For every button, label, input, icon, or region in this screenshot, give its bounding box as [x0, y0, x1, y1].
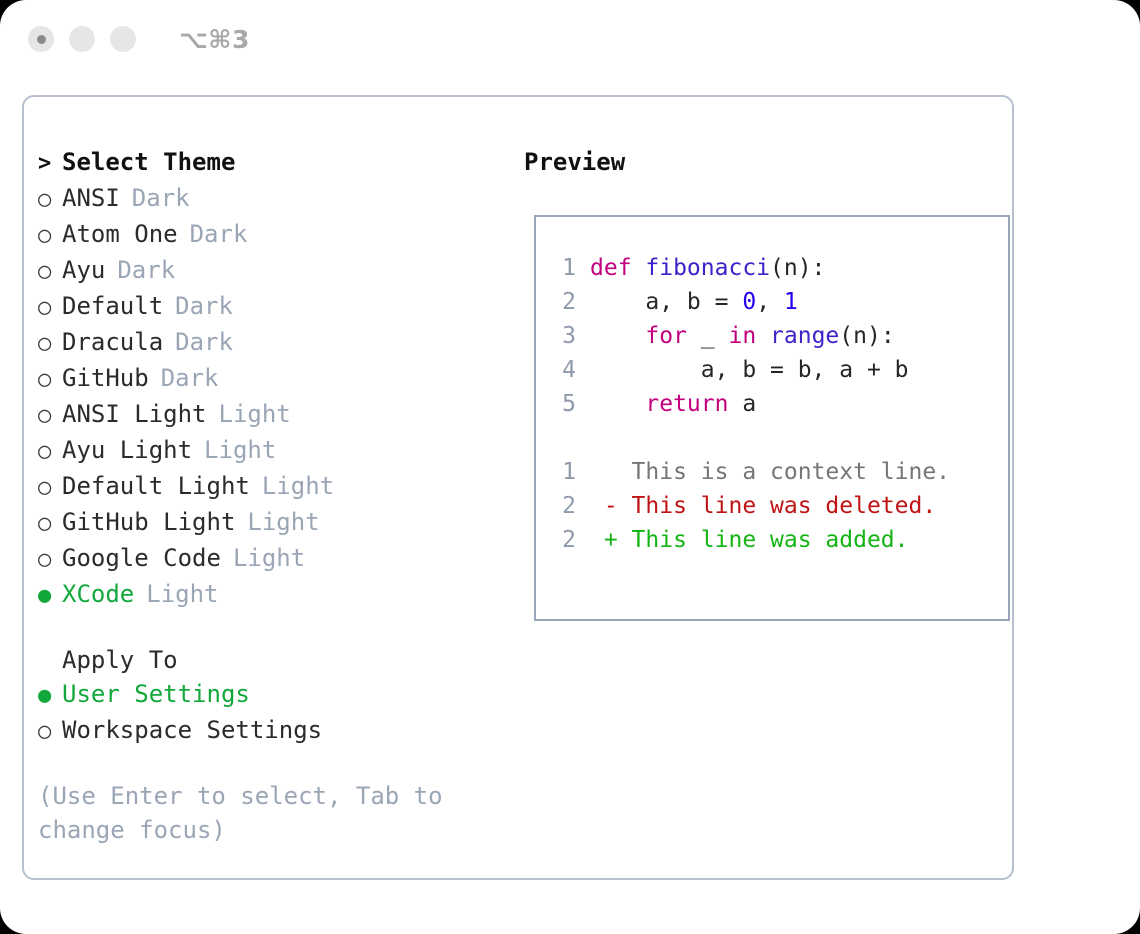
- theme-option-5[interactable]: ○GitHubDark: [38, 361, 488, 397]
- token-num: 0: [742, 289, 756, 315]
- theme-option-2[interactable]: ○AyuDark: [38, 253, 488, 289]
- token-plain: [590, 391, 645, 417]
- radio-unselected-icon: ○: [38, 291, 62, 325]
- diff-line-1: 2 - This line was deleted.: [536, 489, 1008, 523]
- token-plain: (n):: [839, 323, 894, 349]
- code-line-2: 3 for _ in range(n):: [536, 319, 1008, 353]
- radio-unselected-icon: ○: [38, 471, 62, 505]
- main-panel: > Select Theme ○ANSIDark○Atom OneDark○Ay…: [22, 95, 1014, 880]
- theme-option-7[interactable]: ○Ayu LightLight: [38, 433, 488, 469]
- radio-selected-icon: ●: [38, 679, 62, 713]
- theme-option-badge: Light: [247, 505, 319, 539]
- token-add: + This line was added.: [590, 527, 909, 553]
- theme-option-label: ANSI Light: [62, 397, 207, 431]
- theme-option-badge: Dark: [132, 181, 190, 215]
- theme-options-list: ○ANSIDark○Atom OneDark○AyuDark○DefaultDa…: [38, 181, 488, 613]
- window-dot-active[interactable]: [28, 26, 54, 52]
- theme-option-badge: Dark: [190, 217, 248, 251]
- diff-sample: 1 This is a context line.2 - This line w…: [536, 455, 1008, 557]
- theme-option-label: Ayu: [62, 253, 105, 287]
- diff-line-content: - This line was deleted.: [590, 489, 936, 523]
- theme-option-11[interactable]: ●XCodeLight: [38, 577, 488, 613]
- code-line-content: a, b = 0, 1: [590, 285, 798, 319]
- apply-to-option-0[interactable]: ●User Settings: [38, 677, 488, 713]
- diff-line-content: This is a context line.: [590, 455, 950, 489]
- theme-option-label: Default Light: [62, 469, 250, 503]
- code-line-content: def fibonacci(n):: [590, 251, 825, 285]
- theme-option-0[interactable]: ○ANSIDark: [38, 181, 488, 217]
- preview-column: Preview 1def fibonacci(n):2 a, b = 0, 13…: [500, 145, 1000, 621]
- token-num: 1: [784, 289, 798, 315]
- token-fn: range: [770, 323, 839, 349]
- apply-to-option-1[interactable]: ○Workspace Settings: [38, 713, 488, 749]
- theme-option-6[interactable]: ○ANSI LightLight: [38, 397, 488, 433]
- radio-unselected-icon: ○: [38, 219, 62, 253]
- theme-option-3[interactable]: ○DefaultDark: [38, 289, 488, 325]
- token-plain: [756, 323, 770, 349]
- keyboard-shortcut-label: ⌥⌘3: [179, 25, 250, 54]
- radio-unselected-icon: ○: [38, 435, 62, 469]
- theme-option-badge: Dark: [117, 253, 175, 287]
- window-dot-third[interactable]: [110, 26, 136, 52]
- line-number: 2: [536, 285, 590, 319]
- token-plain: ,: [756, 289, 784, 315]
- token-del: - This line was deleted.: [590, 493, 936, 519]
- theme-option-badge: Dark: [175, 289, 233, 323]
- radio-unselected-icon: ○: [38, 327, 62, 361]
- radio-selected-icon: ●: [38, 579, 62, 613]
- caret-icon: >: [38, 147, 62, 181]
- theme-option-label: Dracula: [62, 325, 163, 359]
- theme-option-1[interactable]: ○Atom OneDark: [38, 217, 488, 253]
- line-number: 5: [536, 387, 590, 421]
- theme-option-badge: Light: [219, 397, 291, 431]
- token-plain: a: [728, 391, 756, 417]
- theme-option-badge: Light: [204, 433, 276, 467]
- token-plain: a, b = b, a + b: [590, 357, 909, 383]
- token-kw: for: [645, 323, 687, 349]
- theme-list-header: > Select Theme: [38, 145, 488, 181]
- apply-to-option-label: Workspace Settings: [62, 713, 322, 747]
- spacer: [536, 421, 1008, 455]
- token-plain: _: [687, 323, 729, 349]
- preview-box: 1def fibonacci(n):2 a, b = 0, 13 for _ i…: [534, 215, 1010, 621]
- code-line-3: 4 a, b = b, a + b: [536, 353, 1008, 387]
- radio-unselected-icon: ○: [38, 543, 62, 577]
- apply-to-options-list: ●User Settings○Workspace Settings: [38, 677, 488, 749]
- token-kw: return: [645, 391, 728, 417]
- code-line-content: a, b = b, a + b: [590, 353, 909, 387]
- diff-line-2: 2 + This line was added.: [536, 523, 1008, 557]
- spacer: [38, 749, 488, 775]
- line-number: 3: [536, 319, 590, 353]
- diff-line-0: 1 This is a context line.: [536, 455, 1008, 489]
- keyboard-hint-text: (Use Enter to select, Tab to change focu…: [38, 779, 448, 847]
- theme-option-label: Atom One: [62, 217, 178, 251]
- theme-list-column: > Select Theme ○ANSIDark○Atom OneDark○Ay…: [38, 145, 488, 847]
- theme-option-9[interactable]: ○GitHub LightLight: [38, 505, 488, 541]
- line-number: 1: [536, 251, 590, 285]
- theme-option-label: Ayu Light: [62, 433, 192, 467]
- theme-option-badge: Light: [146, 577, 218, 611]
- preview-title: Preview: [524, 145, 1000, 179]
- theme-option-8[interactable]: ○Default LightLight: [38, 469, 488, 505]
- line-number: 1: [536, 455, 590, 489]
- theme-option-10[interactable]: ○Google CodeLight: [38, 541, 488, 577]
- line-number: 4: [536, 353, 590, 387]
- apply-to-title: Apply To: [62, 643, 178, 677]
- title-bar: ⌥⌘3: [0, 0, 1140, 78]
- window-dot-second[interactable]: [69, 26, 95, 52]
- theme-option-label: Default: [62, 289, 163, 323]
- code-line-0: 1def fibonacci(n):: [536, 251, 1008, 285]
- spacer: [38, 613, 488, 643]
- token-plain: a, b =: [590, 289, 742, 315]
- code-line-1: 2 a, b = 0, 1: [536, 285, 1008, 319]
- theme-option-label: ANSI: [62, 181, 120, 215]
- radio-unselected-icon: ○: [38, 363, 62, 397]
- app-window: ⌥⌘3 > Select Theme ○ANSIDark○Atom OneDar…: [0, 0, 1140, 934]
- code-line-4: 5 return a: [536, 387, 1008, 421]
- line-number: 2: [536, 489, 590, 523]
- theme-option-label: XCode: [62, 577, 134, 611]
- theme-option-4[interactable]: ○DraculaDark: [38, 325, 488, 361]
- theme-option-badge: Light: [233, 541, 305, 575]
- theme-list-title: Select Theme: [62, 145, 235, 179]
- token-ctx: This is a context line.: [590, 459, 950, 485]
- theme-option-label: GitHub: [62, 361, 149, 395]
- code-line-content: for _ in range(n):: [590, 319, 895, 353]
- token-kw: in: [728, 323, 756, 349]
- token-plain: (n):: [770, 255, 825, 281]
- radio-unselected-icon: ○: [38, 399, 62, 433]
- theme-option-badge: Light: [262, 469, 334, 503]
- apply-to-header: Apply To: [38, 643, 488, 677]
- apply-to-option-label: User Settings: [62, 677, 250, 711]
- theme-option-label: GitHub Light: [62, 505, 235, 539]
- token-kw: def: [590, 255, 645, 281]
- theme-option-label: Google Code: [62, 541, 221, 575]
- code-sample: 1def fibonacci(n):2 a, b = 0, 13 for _ i…: [536, 251, 1008, 421]
- radio-unselected-icon: ○: [38, 183, 62, 217]
- window-dot-active-inner: [37, 35, 46, 44]
- radio-unselected-icon: ○: [38, 507, 62, 541]
- diff-line-content: + This line was added.: [590, 523, 909, 557]
- code-line-content: return a: [590, 387, 756, 421]
- radio-unselected-icon: ○: [38, 255, 62, 289]
- token-plain: [590, 323, 645, 349]
- radio-unselected-icon: ○: [38, 715, 62, 749]
- token-fn: fibonacci: [645, 255, 770, 281]
- theme-option-badge: Dark: [175, 325, 233, 359]
- theme-option-badge: Dark: [161, 361, 219, 395]
- line-number: 2: [536, 523, 590, 557]
